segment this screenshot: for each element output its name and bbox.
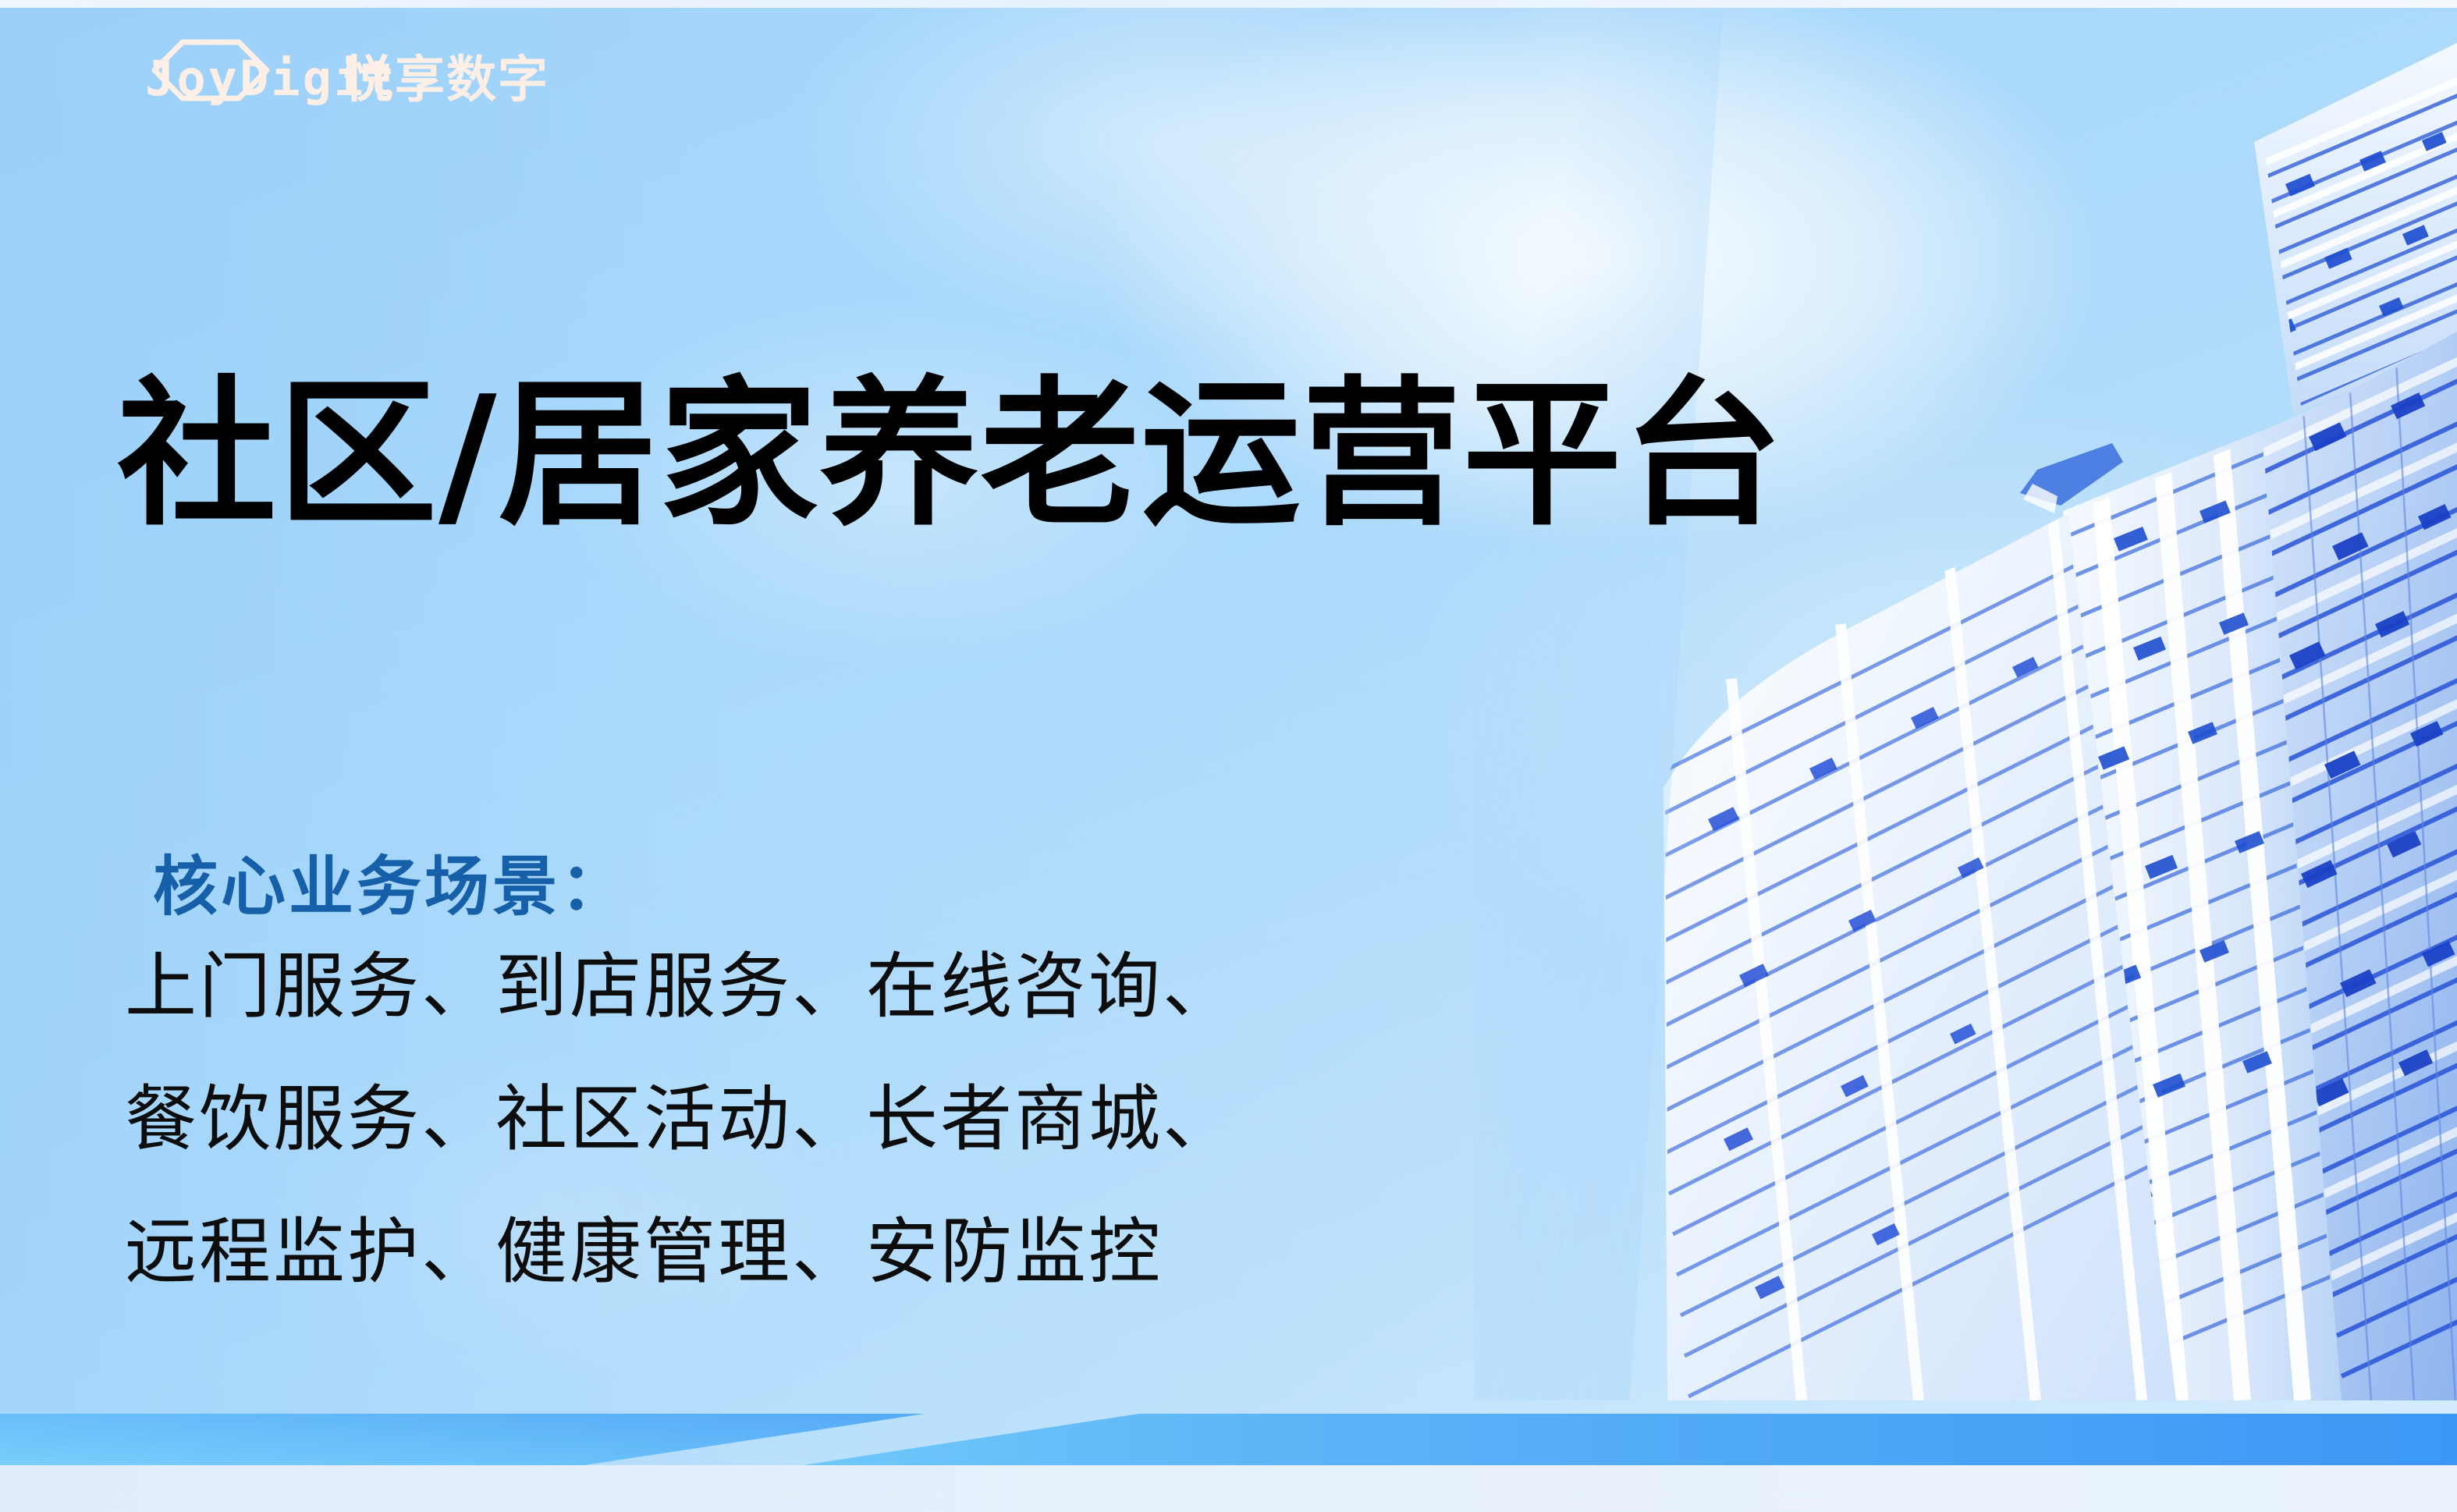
joydigit-logo-mark: JoyDigit 悦享数字 [139,30,669,123]
scenario-line: 远程监护、健康管理、安防监控 [125,1186,1237,1319]
logo-chinese-text: 悦享数字 [343,51,549,109]
skyscraper-photo [1474,0,2457,1400]
section-heading-core-business: 核心业务场景： [153,834,628,928]
skyscraper-illustration [1474,0,2457,1400]
page-title: 社区/居家养老运营平台 [117,372,1784,539]
brand-logo[interactable]: JoyDigit 悦享数字 [139,30,669,123]
top-edge-strip [0,0,2457,8]
bottom-footer-strip [0,1465,2457,1512]
scenario-line: 餐饮服务、社区活动、长者商城、 [125,1053,1237,1186]
scenario-list: 上门服务、到店服务、在线咨询、 餐饮服务、社区活动、长者商城、 远程监护、健康管… [125,921,1237,1319]
slide-root: JoyDigit 悦享数字 社区/居家养老运营平台 核心业务场景： 上门服务、到… [0,0,2457,1512]
scenario-line: 上门服务、到店服务、在线咨询、 [125,921,1237,1053]
